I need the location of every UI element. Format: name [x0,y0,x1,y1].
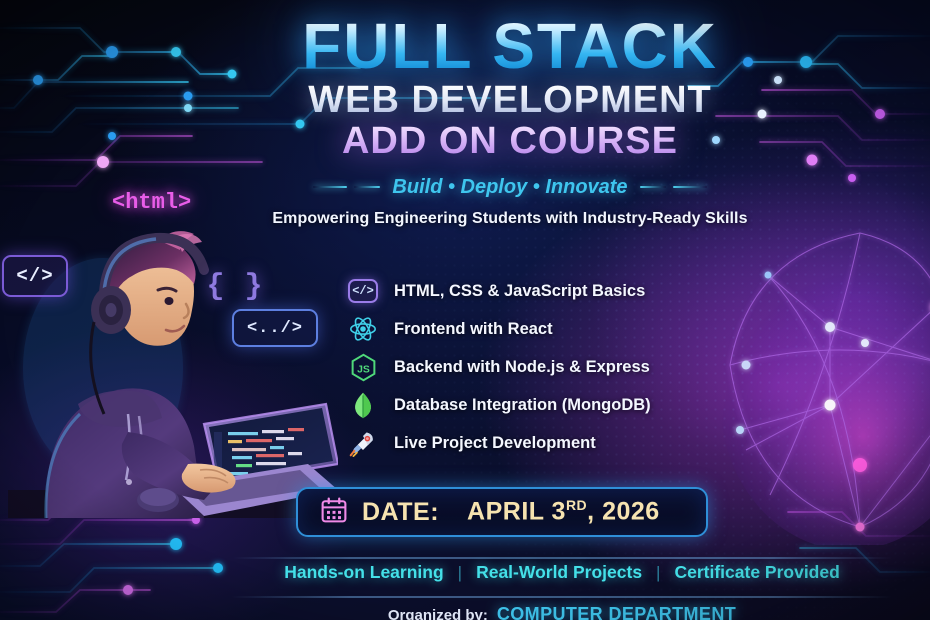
tagline-row: Build • Deploy • Innovate [230,176,790,199]
divider-below-benefits [232,596,892,598]
headline-block: FULL STACK WEB DEVELOPMENT ADD ON COURSE… [230,14,790,228]
tagline-rule-right [640,186,707,188]
poster-canvas: </> { } <../> <html> FULL STACK WEB DEVE… [0,0,930,620]
benefit-separator: | [656,563,660,583]
footer-organization: COMPUTER DEPARTMENT [497,604,736,620]
page-subtitle-secondary: ADD ON COURSE [230,121,790,161]
feature-label: Live Project Development [394,434,596,453]
benefit-item: Hands-on Learning [284,562,443,583]
code-badge-ellipsis-icon: <../> [232,309,318,347]
feature-list: </> HTML, CSS & JavaScript Basics Fronte… [348,272,748,462]
tagline-rule-left [313,186,380,188]
react-atom-icon [348,314,378,344]
page-title: FULL STACK [230,14,790,78]
feature-item-html-css-js: </> HTML, CSS & JavaScript Basics [348,272,748,310]
feature-item-nodejs: JS Backend with Node.js & Express [348,348,748,386]
subtitle-text: Empowering Engineering Students with Ind… [230,210,790,228]
date-label: DATE: [362,498,439,527]
tagline-text: Build • Deploy • Innovate [392,176,627,199]
footer-row: Organized by: COMPUTER DEPARTMENT [232,604,892,620]
footer-label: Organized by: [388,607,488,620]
code-badge-braces-icon: { } [205,265,265,309]
benefits-row: Hands-on Learning | Real-World Projects … [232,562,892,583]
benefit-separator: | [458,563,462,583]
feature-label: Database Integration (MongoDB) [394,396,651,415]
code-brackets-icon: </> [348,276,378,306]
calendar-icon [320,496,348,529]
feature-label: HTML, CSS & JavaScript Basics [394,282,645,301]
feature-label: Backend with Node.js & Express [394,358,650,377]
nodejs-hexagon-icon: JS [348,352,378,382]
date-value: APRIL 3RD, 2026 [467,497,660,526]
feature-item-mongodb: Database Integration (MongoDB) [348,386,748,424]
code-badge-angle-icon: </> [2,255,68,297]
rocket-icon [348,428,378,458]
date-month-day: APRIL 3 [467,498,566,526]
date-banner: DATE: APRIL 3RD, 2026 [296,487,708,537]
divider-above-benefits [232,557,892,559]
date-year: , 2026 [587,498,660,526]
svg-text:JS: JS [357,364,370,375]
feature-item-react: Frontend with React [348,310,748,348]
benefit-item: Certificate Provided [674,562,839,583]
benefit-item: Real-World Projects [476,562,642,583]
date-ordinal: RD [566,497,587,513]
feature-label: Frontend with React [394,320,553,339]
mongodb-leaf-icon [348,390,378,420]
feature-item-live-project: Live Project Development [348,424,748,462]
html-tag-label: <html> [112,190,191,215]
page-subtitle-primary: WEB DEVELOPMENT [230,80,790,120]
